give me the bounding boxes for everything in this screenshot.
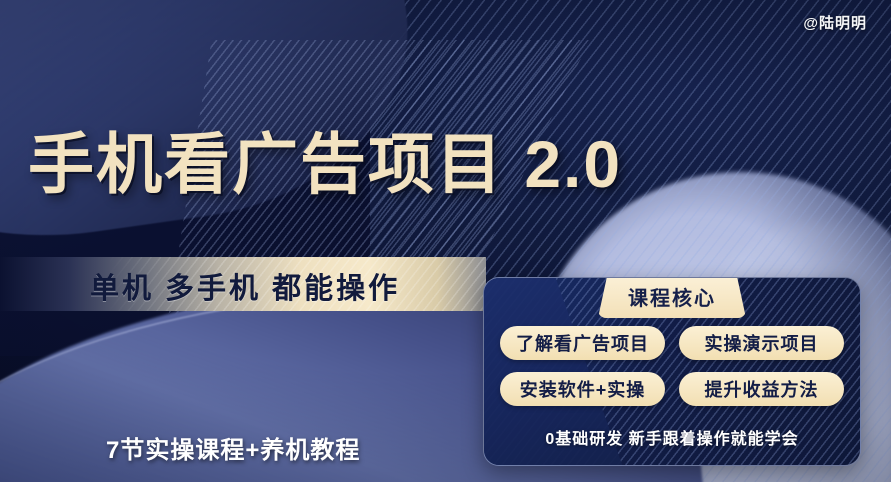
core-feature-list: 了解看广告项目 实操演示项目 安装软件+实操 提升收益方法 xyxy=(500,326,844,406)
core-panel-header: 课程核心 xyxy=(598,277,746,318)
promo-poster: @陆明明 手机看广告项目 2.0 单机 多手机 都能操作 7节实操课程+养机教程… xyxy=(0,0,891,482)
core-panel-content: 课程核心 了解看广告项目 实操演示项目 安装软件+实操 提升收益方法 0基础研发… xyxy=(484,278,860,465)
feature-pill: 安装软件+实操 xyxy=(500,372,665,406)
feature-pill: 提升收益方法 xyxy=(679,372,844,406)
feature-pill: 实操演示项目 xyxy=(679,326,844,360)
feature-pill: 了解看广告项目 xyxy=(500,326,665,360)
subtitle-text: 单机 多手机 都能操作 xyxy=(90,265,400,307)
author-watermark: @陆明明 xyxy=(803,12,867,33)
page-title: 手机看广告项目 2.0 xyxy=(28,131,622,197)
core-panel: 课程核心 了解看广告项目 实操演示项目 安装软件+实操 提升收益方法 0基础研发… xyxy=(483,277,861,466)
course-count-text: 7节实操课程+养机教程 xyxy=(106,430,360,465)
core-panel-tagline: 0基础研发 新手跟着操作就能学会 xyxy=(484,425,860,449)
